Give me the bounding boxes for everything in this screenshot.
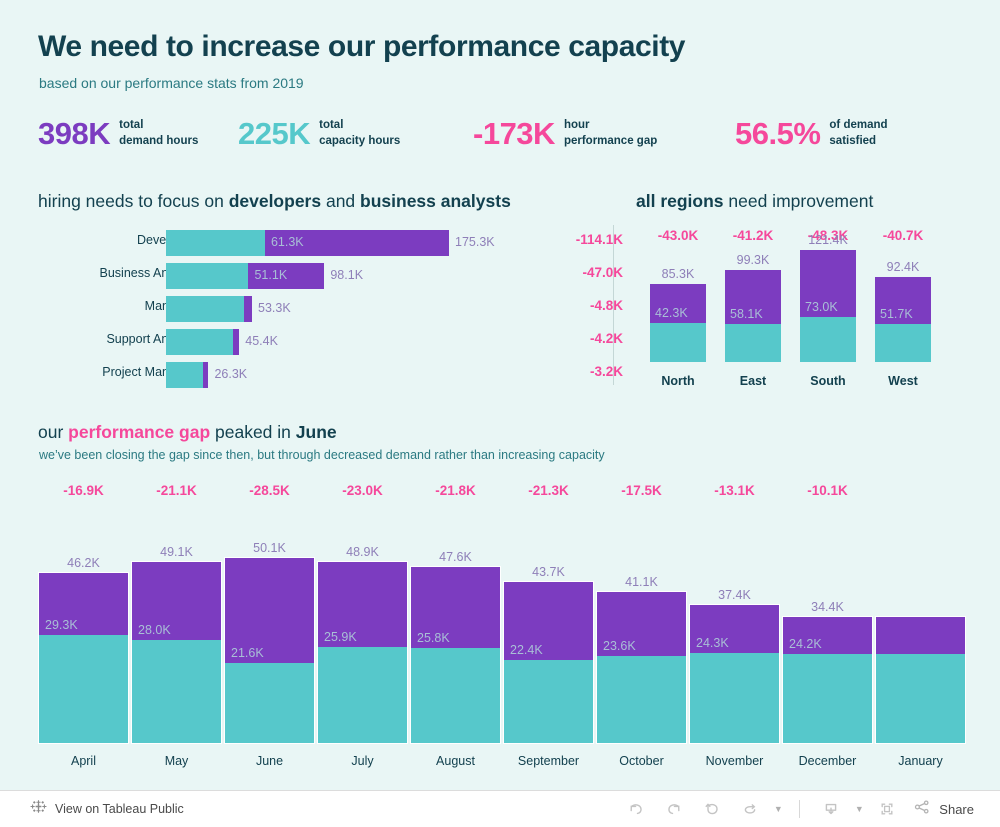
demand-value-label: 98.1K [330,268,363,282]
kpi-label-line1: total [119,118,198,134]
months-title-pink: performance gap [68,422,210,442]
region-stack: 58.1K [725,270,781,362]
roles-title-bold-developers: developers [229,191,321,211]
kpi-label: hour performance gap [564,118,657,149]
month-capacity-label: 29.3K [45,618,78,632]
regions-section-title: all regions need improvement [636,191,873,212]
kpi-value: 225K [238,118,310,149]
month-capacity-bar[interactable] [782,654,873,744]
roles-title-mid: and [321,191,360,211]
kpi-label-line2: satisfied [829,134,887,150]
month-column[interactable]: 41.1K23.6K [596,569,687,744]
capacity-bar[interactable] [166,362,203,388]
region-name-label: East [725,374,781,388]
share-icon [912,797,932,822]
dashboard-canvas: We need to increase our performance capa… [0,0,1000,790]
demand-value-label: 45.4K [245,334,278,348]
region-column[interactable]: -48.3K73.0K121.4KSouth [800,228,856,388]
region-column[interactable]: -40.7K51.7K92.4KWest [875,228,931,388]
region-name-label: West [875,374,931,388]
download-button[interactable] [814,795,848,823]
redo-button[interactable] [657,795,691,823]
months-title-bold-june: June [296,422,337,442]
month-capacity-bar[interactable] [224,663,315,744]
fullscreen-button[interactable] [870,795,904,823]
month-name-label: August [410,754,501,768]
region-demand-segment[interactable]: 51.7K [875,277,931,325]
month-demand-total-label: 47.6K [410,550,501,564]
month-name-label: October [596,754,687,768]
region-gap-label: -41.2K [725,228,781,243]
month-gap-label: -16.9K [38,483,129,498]
region-demand-label: 73.0K [805,300,838,314]
kpi-label-line2: demand hours [119,134,198,150]
month-capacity-bar[interactable] [596,656,687,744]
role-row[interactable]: Project Manager26.3K-3.2K [38,360,598,393]
role-row[interactable]: Business Analyst51.1K98.1K-47.0K [38,261,598,294]
month-capacity-bar[interactable] [131,640,222,745]
role-gap-label: -4.2K [568,331,623,346]
capacity-bar[interactable] [166,263,248,289]
month-gap-label: -10.1K [782,483,873,498]
region-total-label: 99.3K [725,253,781,267]
month-column[interactable] [875,594,966,744]
month-capacity-bar[interactable] [38,635,129,744]
region-gap-label: -40.7K [875,228,931,243]
role-gap-label: -4.8K [568,298,623,313]
month-demand-total-label: 46.2K [38,556,129,570]
kpi-value: 56.5% [735,118,820,149]
capacity-bar[interactable] [166,329,233,355]
kpi-label: total demand hours [119,118,198,149]
month-name-label: July [317,754,408,768]
month-column[interactable]: 50.1K21.6K [224,535,315,744]
month-capacity-label: 23.6K [603,639,636,653]
region-total-label: 92.4K [875,260,931,274]
month-demand-total-label: 50.1K [224,541,315,555]
region-stack: 42.3K [650,284,706,362]
page-title: We need to increase our performance capa… [38,30,685,64]
revert-button[interactable] [695,795,729,823]
kpi-label-line1: hour [564,118,657,134]
capacity-value-label: 51.1K [254,268,287,282]
month-capacity-label: 24.2K [789,637,822,651]
region-capacity-segment[interactable] [875,324,931,362]
month-demand-total-label: 49.1K [131,545,222,559]
share-button[interactable]: Share [908,797,980,822]
month-gap-label: -21.3K [503,483,594,498]
demand-value-label: 26.3K [214,367,247,381]
kpi-row: 398K total demand hours 225K total capac… [38,118,968,170]
regions-title-rest: need improvement [724,191,874,211]
role-gap-label: -3.2K [568,364,623,379]
region-demand-segment[interactable]: 42.3K [650,284,706,323]
month-name-label: April [38,754,129,768]
month-capacity-label: 22.4K [510,643,543,657]
month-column[interactable]: 46.2K29.3K [38,550,129,744]
month-name-label: January [875,754,966,768]
month-name-label: May [131,754,222,768]
month-capacity-label: 21.6K [231,646,264,660]
kpi-value: 398K [38,118,110,149]
month-column[interactable]: 43.7K22.4K [503,559,594,744]
month-gap-label: -21.8K [410,483,501,498]
refresh-dropdown-caret-icon[interactable]: ▼ [771,804,785,814]
month-capacity-label: 25.9K [324,630,357,644]
kpi-total-demand-hours: 398K total demand hours [38,118,198,149]
region-total-label: 85.3K [650,267,706,281]
region-demand-segment[interactable]: 58.1K [725,270,781,324]
region-capacity-segment[interactable] [650,323,706,362]
capacity-bar[interactable] [166,230,265,256]
month-demand-total-label: 48.9K [317,545,408,559]
months-title-mid: peaked in [210,422,296,442]
month-gap-label: -21.1K [131,483,222,498]
month-capacity-bar[interactable] [317,647,408,744]
region-stack: 73.0K [800,250,856,362]
month-demand-total-label: 37.4K [689,588,780,602]
month-column[interactable]: 49.1K28.0K [131,539,222,744]
kpi-value: -173K [473,118,555,149]
region-name-label: North [650,374,706,388]
download-dropdown-caret-icon[interactable]: ▼ [852,804,866,814]
tableau-toolbar: View on Tableau Public [0,790,1000,827]
region-demand-label: 42.3K [655,306,688,320]
role-gap-label: -47.0K [568,265,623,280]
toolbar-separator [799,800,800,818]
kpi-label-line1: of demand [829,118,887,134]
month-gap-label: -23.0K [317,483,408,498]
tableau-logo-icon [30,798,47,820]
region-column[interactable]: -41.2K58.1K99.3KEast [725,228,781,388]
demand-value-label: 175.3K [455,235,495,249]
month-demand-total-label: 43.7K [503,565,594,579]
role-row[interactable]: Manager53.3K-4.8K [38,294,598,327]
month-demand-total-label: 34.4K [782,600,873,614]
toolbar-actions: ▼ ▼ [619,795,980,823]
roles-title-bold-business-analysts: business analysts [360,191,511,211]
region-demand-label: 58.1K [730,307,763,321]
month-capacity-bar[interactable] [503,660,594,744]
month-column[interactable]: 48.9K25.9K [317,539,408,744]
capacity-bar[interactable] [166,296,244,322]
regions-chart: -43.0K42.3K85.3KNorth-41.2K58.1K99.3KEas… [636,228,976,388]
region-gap-label: -43.0K [650,228,706,243]
capacity-value-label: 61.3K [271,235,304,249]
view-on-tableau-public-button[interactable]: View on Tableau Public [30,798,184,820]
role-row[interactable]: Developer61.3K175.3K-114.1K [38,228,598,261]
month-gap-label: -13.1K [689,483,780,498]
region-demand-segment[interactable]: 73.0K [800,250,856,317]
view-on-tableau-public-label: View on Tableau Public [55,802,184,816]
month-capacity-bar[interactable] [875,654,966,744]
undo-button[interactable] [619,795,653,823]
roles-section-title: hiring needs to focus on developers and … [38,191,511,212]
refresh-button[interactable] [733,795,767,823]
monthly-gap-label-row: -16.9K-21.1K-28.5K-23.0K-21.8K-21.3K-17.… [38,483,968,513]
region-capacity-segment[interactable] [725,324,781,362]
kpi-hour-performance-gap: -173K hour performance gap [473,118,657,149]
month-name-label: December [782,754,873,768]
month-capacity-label: 24.3K [696,636,729,650]
region-name-label: South [800,374,856,388]
kpi-total-capacity-hours: 225K total capacity hours [238,118,400,149]
kpi-label-line2: capacity hours [319,134,400,150]
kpi-label-line1: total [319,118,400,134]
month-gap-label: -17.5K [596,483,687,498]
role-gap-label: -114.1K [568,232,623,247]
month-demand-total-label: 41.1K [596,575,687,589]
month-column[interactable]: 37.4K24.3K [689,582,780,744]
month-name-label: November [689,754,780,768]
kpi-label-line2: performance gap [564,134,657,150]
kpi-label: total capacity hours [319,118,400,149]
monthly-gap-chart: -16.9K-21.1K-28.5K-23.0K-21.8K-21.3K-17.… [38,483,968,768]
months-section-title: our performance gap peaked in June [38,422,337,443]
region-capacity-segment[interactable] [800,317,856,362]
months-section-subtitle: we’ve been closing the gap since then, b… [39,448,605,462]
month-column[interactable]: 34.4K24.2K [782,594,873,744]
month-capacity-bar[interactable] [689,653,780,744]
region-demand-label: 51.7K [880,307,913,321]
month-column[interactable]: 47.6K25.8K [410,544,501,744]
hiring-needs-chart: Developer61.3K175.3K-114.1KBusiness Anal… [38,228,598,393]
share-label: Share [939,802,974,817]
roles-title-prefix: hiring needs to focus on [38,191,229,211]
month-gap-label: -28.5K [224,483,315,498]
section-divider [613,225,614,385]
month-name-label: September [503,754,594,768]
region-column[interactable]: -43.0K42.3K85.3KNorth [650,228,706,388]
demand-value-label: 53.3K [258,301,291,315]
page-subtitle: based on our performance stats from 2019 [39,75,304,91]
month-capacity-label: 25.8K [417,631,450,645]
month-name-label: June [224,754,315,768]
months-title-prefix: our [38,422,68,442]
month-capacity-bar[interactable] [410,648,501,744]
regions-title-bold: all regions [636,191,724,211]
month-capacity-label: 28.0K [138,623,171,637]
role-row[interactable]: Support Analyst45.4K-4.2K [38,327,598,360]
kpi-demand-satisfied: 56.5% of demand satisfied [735,118,888,149]
region-stack: 51.7K [875,277,931,362]
region-total-label: 121.4K [800,233,856,247]
kpi-label: of demand satisfied [829,118,887,149]
